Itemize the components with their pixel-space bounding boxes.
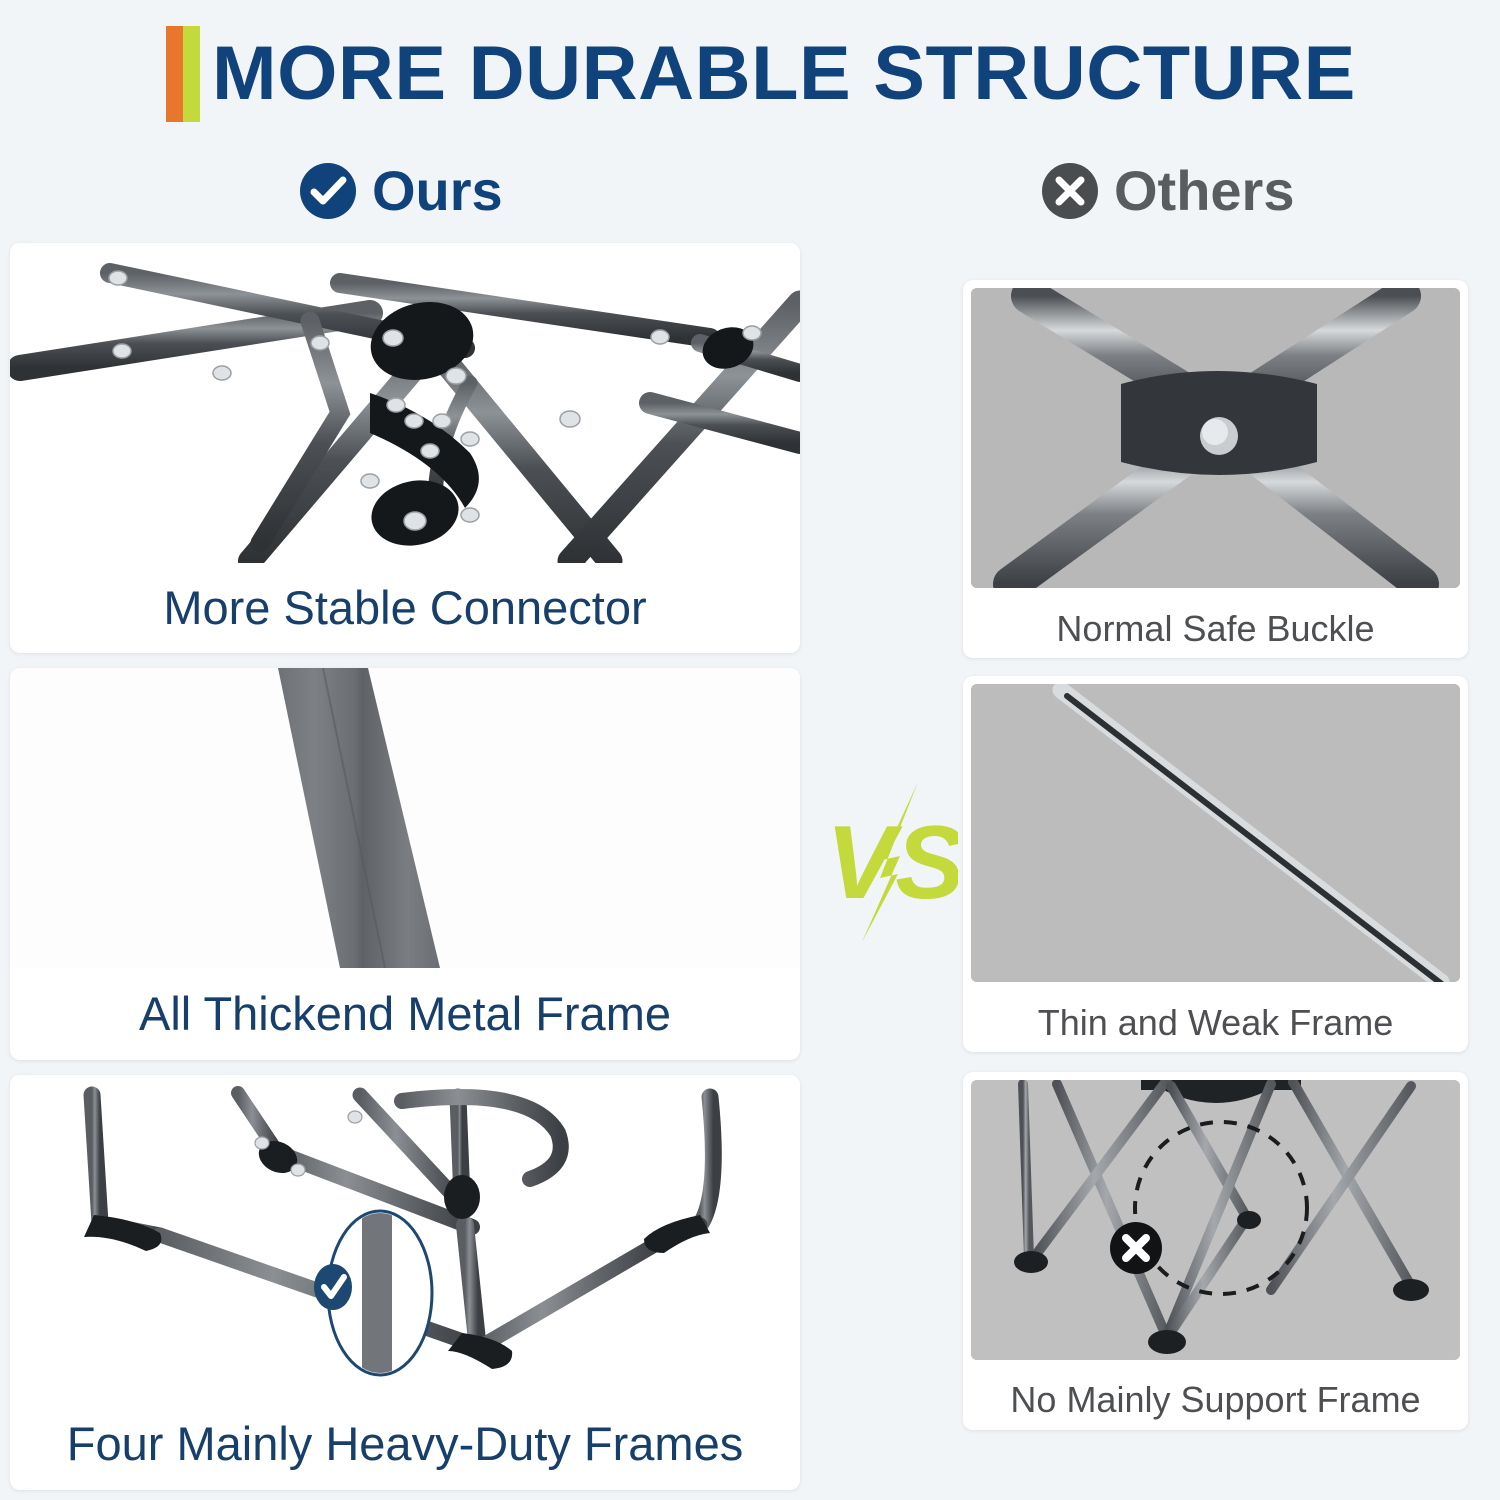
accent-bar-orange	[166, 26, 183, 122]
image-connector-closeup	[10, 243, 800, 563]
column-header-ours: Ours	[300, 163, 503, 219]
x-badge-icon	[1110, 1222, 1162, 1274]
column-label-others: Others	[1114, 163, 1295, 219]
comparison-card-ours-2: All Thickend Metal Frame	[10, 668, 800, 1060]
column-header-others: Others	[1042, 163, 1295, 219]
x-circle-icon	[1042, 163, 1098, 219]
caption-others-2: Thin and Weak Frame	[963, 990, 1468, 1052]
caption-ours-2: All Thickend Metal Frame	[10, 968, 800, 1060]
caption-others-1: Normal Safe Buckle	[963, 596, 1468, 658]
check-badge-icon	[314, 1264, 352, 1310]
image-normal-safe-buckle	[971, 288, 1460, 588]
comparison-card-others-2: Thin and Weak Frame	[963, 676, 1468, 1052]
accent-bar-lime	[183, 26, 200, 122]
image-thin-weak-frame	[971, 684, 1460, 982]
column-label-ours: Ours	[372, 163, 503, 219]
comparison-card-others-1: Normal Safe Buckle	[963, 280, 1468, 658]
comparison-card-ours-3: Four Mainly Heavy-Duty Frames	[10, 1075, 800, 1490]
title-accent-bars	[166, 26, 200, 122]
image-heavy-duty-legs	[10, 1075, 800, 1397]
caption-others-3: No Mainly Support Frame	[963, 1368, 1468, 1430]
comparison-card-others-3: No Mainly Support Frame	[963, 1072, 1468, 1430]
image-no-support-frame	[971, 1080, 1460, 1360]
comparison-card-ours-1: More Stable Connector	[10, 243, 800, 653]
caption-ours-1: More Stable Connector	[10, 563, 800, 653]
page-title-row: MORE DURABLE STRUCTURE	[0, 26, 1500, 122]
image-thick-metal-tube	[10, 668, 800, 968]
check-circle-icon	[300, 163, 356, 219]
page-title: MORE DURABLE STRUCTURE	[212, 26, 1356, 122]
caption-ours-3: Four Mainly Heavy-Duty Frames	[10, 1397, 800, 1490]
vs-badge: VS	[822, 782, 958, 942]
